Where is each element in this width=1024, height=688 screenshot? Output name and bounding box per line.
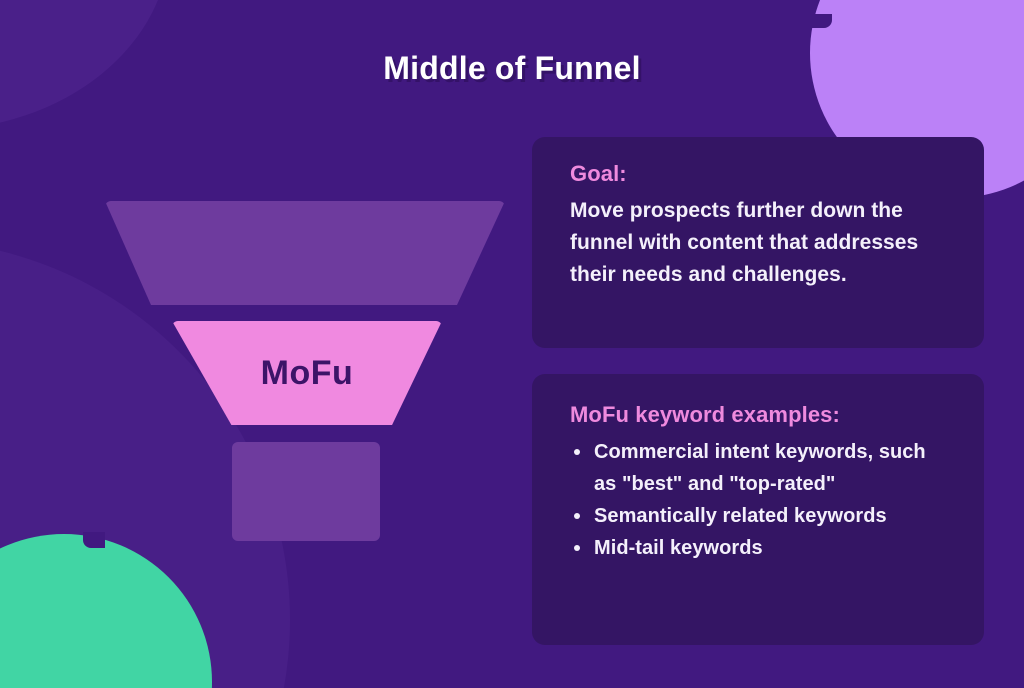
keyword-examples-heading: MoFu keyword examples: xyxy=(570,402,950,428)
list-item-label: Semantically related keywords xyxy=(594,505,887,527)
page-title: Middle of Funnel xyxy=(0,50,1024,87)
infographic-canvas: Middle of Funnel MoFu Goal: Move prospec… xyxy=(0,0,1024,688)
goal-card-body: Move prospects further down the funnel w… xyxy=(570,195,946,291)
funnel-segment-top xyxy=(105,201,505,305)
goal-card: Goal: Move prospects further down the fu… xyxy=(532,137,984,348)
list-item: Semantically related keywords xyxy=(570,500,950,532)
list-item: Commercial intent keywords, such as "bes… xyxy=(570,436,950,500)
keyword-examples-card: MoFu keyword examples: Commercial intent… xyxy=(532,374,984,645)
bullet-dot-icon xyxy=(574,545,580,551)
funnel-segment-middle-label: MoFu xyxy=(172,321,442,425)
funnel-segment-bottom xyxy=(232,442,380,541)
list-item-label: Commercial intent keywords, such as "bes… xyxy=(594,441,926,495)
goal-card-heading: Goal: xyxy=(570,161,946,187)
list-item: Mid-tail keywords xyxy=(570,532,950,564)
funnel-diagram: MoFu xyxy=(95,190,515,555)
keyword-examples-list: Commercial intent keywords, such as "bes… xyxy=(570,436,950,564)
list-item-label: Mid-tail keywords xyxy=(594,537,763,559)
background-blob-purple-notch xyxy=(806,14,832,28)
bullet-dot-icon xyxy=(574,449,580,455)
bullet-dot-icon xyxy=(574,513,580,519)
